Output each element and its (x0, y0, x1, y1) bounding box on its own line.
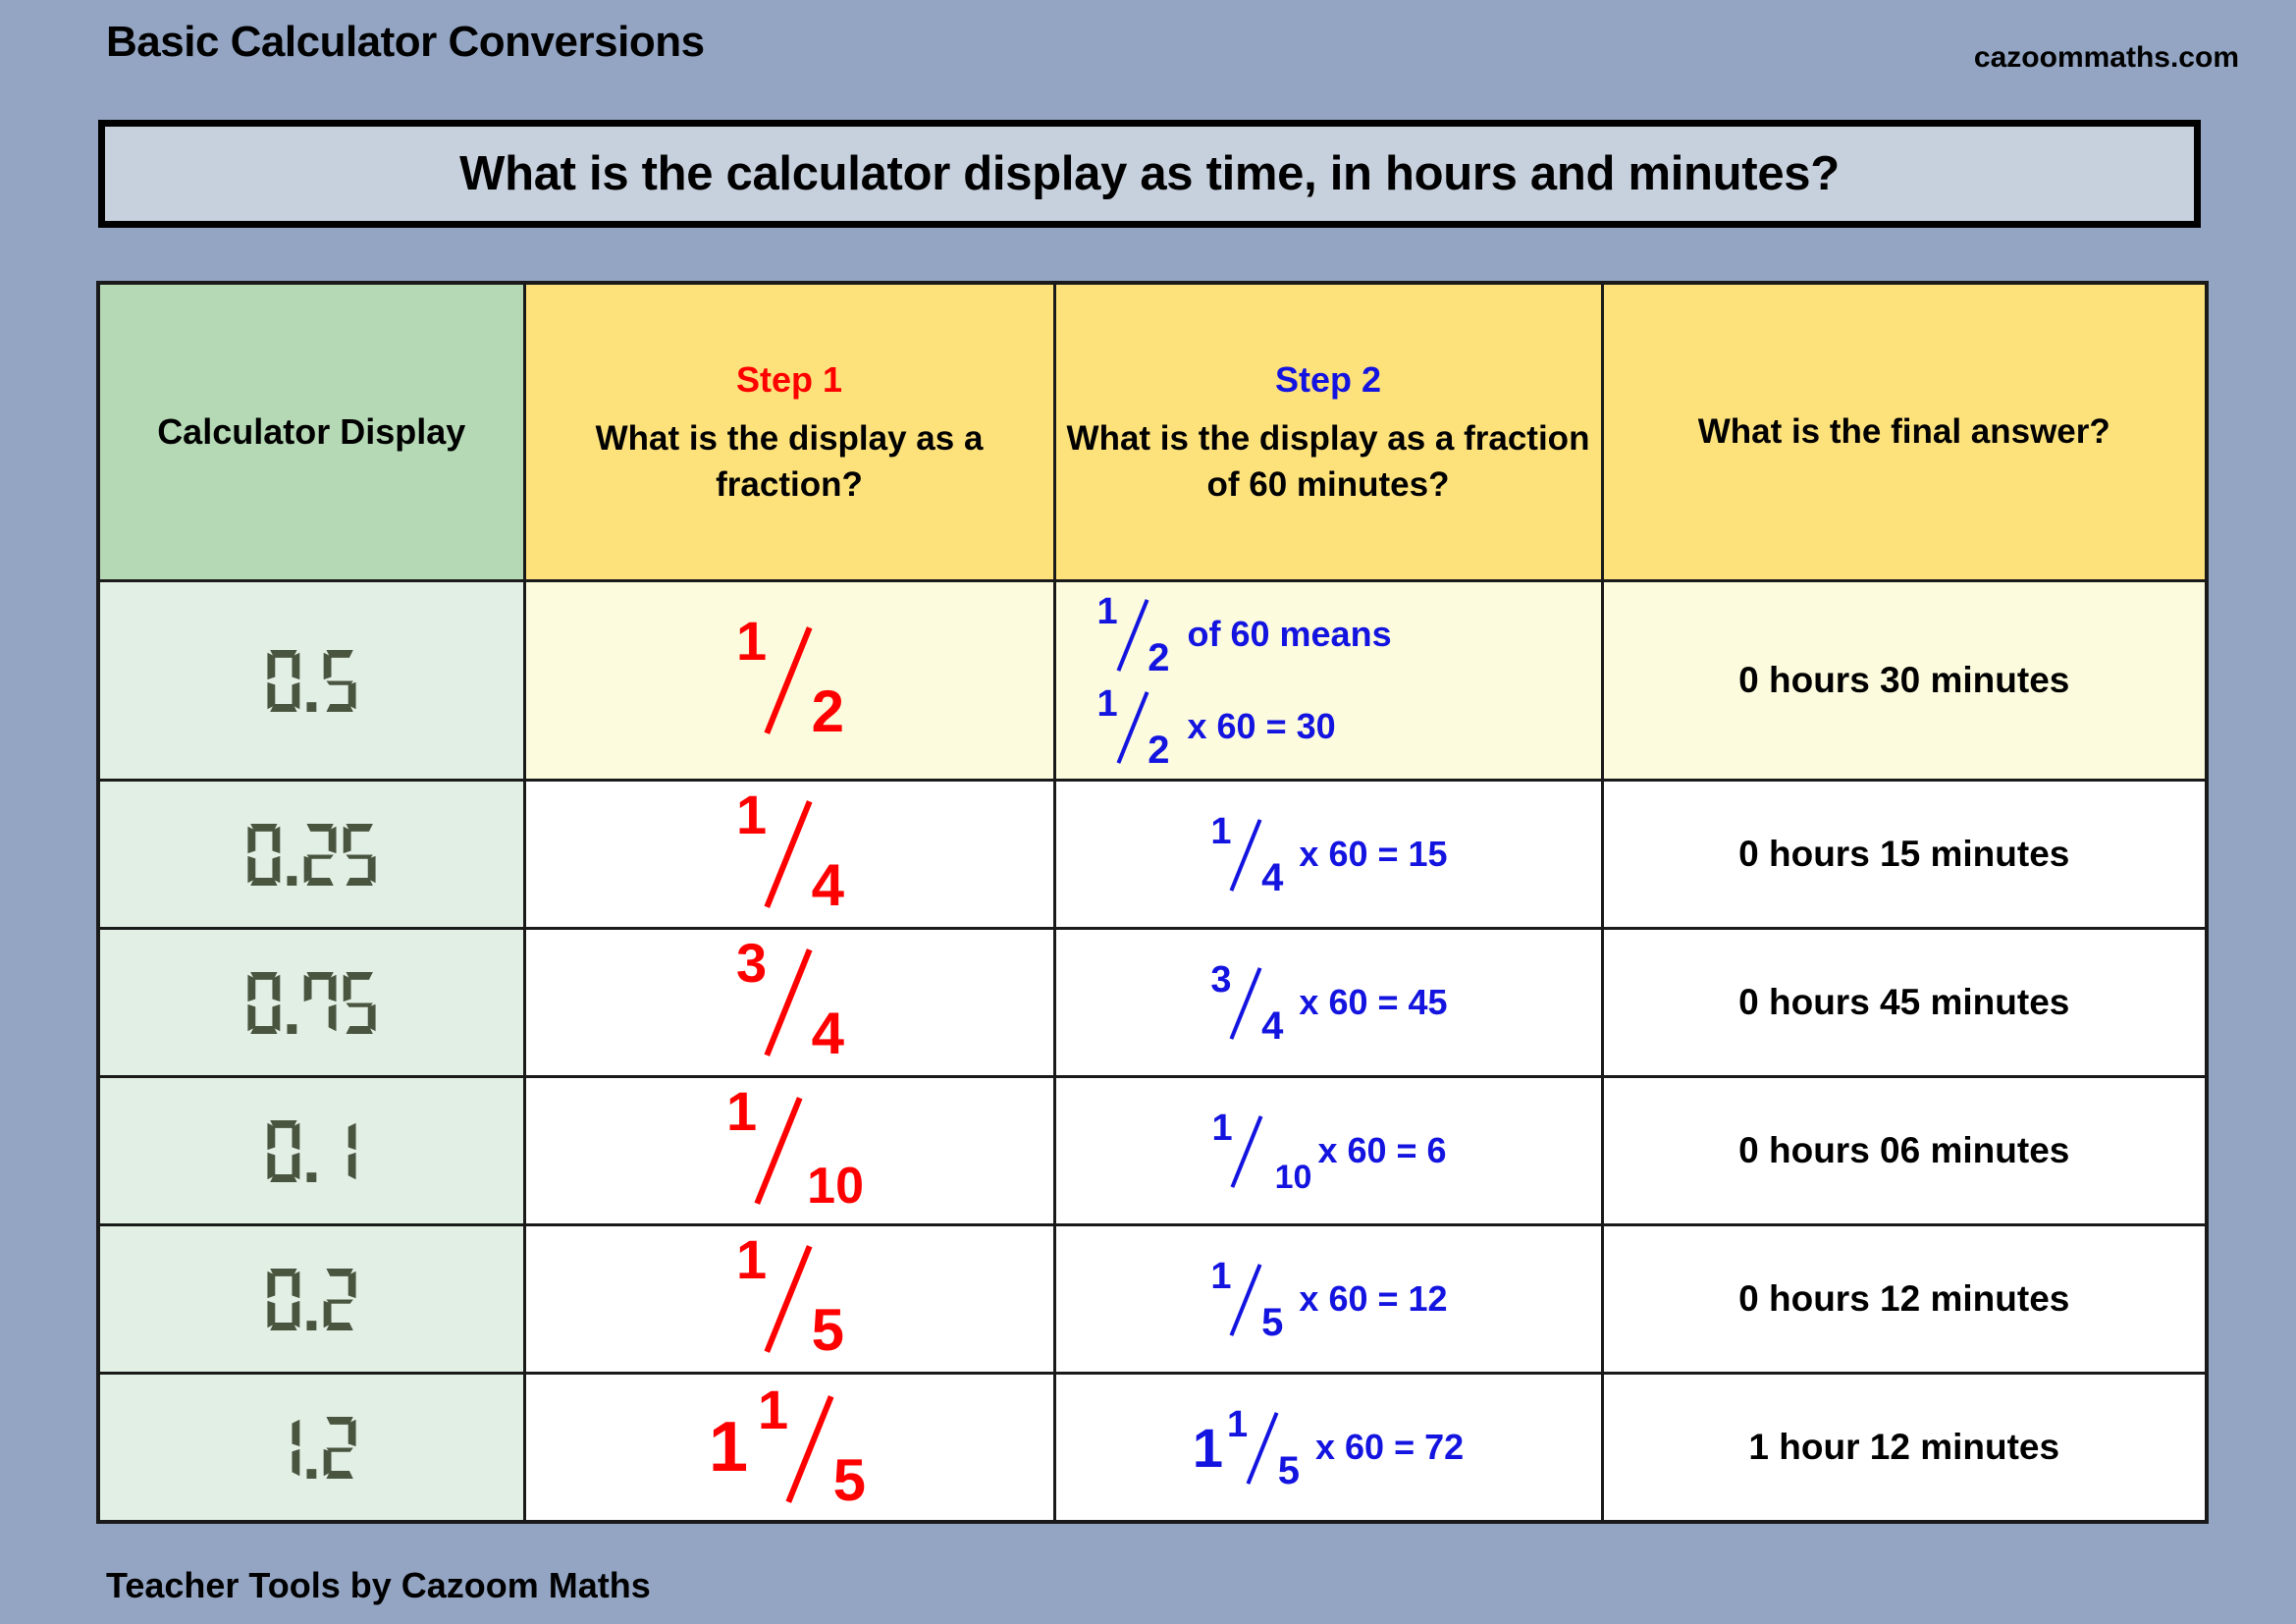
fraction-glyph: 15 (730, 1238, 848, 1356)
cell-calculator-display (98, 1077, 524, 1225)
column-header-calculator-display: Calculator Display (98, 283, 524, 581)
fraction-denominator: 5 (1278, 1451, 1300, 1490)
fraction-slash (754, 1097, 802, 1205)
fraction-numerator: 3 (1210, 961, 1231, 999)
cell-final-answer: 0 hours 30 minutes (1602, 581, 2207, 781)
cell-step-2-working: 34x 60 = 45 (1054, 929, 1602, 1077)
final-answer-text: 0 hours 45 minutes (1738, 982, 2069, 1022)
cell-calculator-display (98, 929, 524, 1077)
fraction-denominator: 4 (1261, 1006, 1283, 1046)
fraction: 115 (1193, 1408, 1302, 1487)
step-2-line-text: of 60 means (1188, 614, 1392, 655)
table-header-row: Calculator Display Step 1 What is the di… (98, 283, 2207, 581)
fraction: 14 (730, 793, 848, 911)
fraction-denominator: 5 (1261, 1303, 1283, 1342)
cell-step-1-fraction: 34 (524, 929, 1054, 1077)
fraction-numerator: 3 (736, 936, 767, 991)
cell-step-1-fraction: 115 (524, 1374, 1054, 1523)
fraction-glyph: 15 (1208, 1260, 1285, 1338)
fraction-numerator: 1 (1097, 593, 1118, 630)
fraction: 12 (1095, 687, 1172, 766)
column-header-label: What is the display as a fraction of 60 … (1067, 419, 1590, 504)
cell-calculator-display (98, 1374, 524, 1523)
step-2-line: 115x 60 = 72 (1056, 1408, 1601, 1487)
cell-final-answer: 0 hours 12 minutes (1602, 1225, 2207, 1374)
cell-step-2-working: 14x 60 = 15 (1054, 781, 1602, 929)
fraction-glyph: 14 (1208, 815, 1285, 893)
fraction-slash (1116, 599, 1148, 672)
fraction-slash (764, 948, 812, 1056)
step-2-lines: 12of 60 means12x 60 = 30 (1056, 595, 1601, 766)
table-row: 3434x 60 = 450 hours 45 minutes (98, 929, 2207, 1077)
fraction-denominator: 4 (1261, 858, 1283, 897)
final-answer-text: 0 hours 12 minutes (1738, 1278, 2069, 1319)
fraction-glyph: 34 (730, 942, 848, 1059)
column-header-step-2: Step 2 What is the display as a fraction… (1054, 283, 1602, 581)
table-row: 1414x 60 = 150 hours 15 minutes (98, 781, 2207, 929)
fraction-numerator: 1 (1097, 685, 1118, 723)
fraction: 12 (1095, 595, 1172, 674)
fraction-slash (1116, 691, 1148, 764)
fraction-denominator: 2 (1148, 638, 1169, 677)
fraction-slash (1231, 1115, 1263, 1188)
fraction-glyph: 12 (1095, 687, 1172, 766)
step-2-line-text: x 60 = 72 (1315, 1427, 1464, 1468)
column-header-label: What is the display as a fraction? (596, 419, 984, 504)
fraction: 15 (730, 1238, 848, 1356)
step-2-line: 14x 60 = 15 (1056, 815, 1601, 893)
fraction-slash (786, 1395, 834, 1503)
step-2-line-text: x 60 = 12 (1299, 1278, 1447, 1320)
fraction-numerator: 1 (736, 787, 767, 842)
column-header-final-answer: What is the final answer? (1602, 283, 2207, 581)
cell-calculator-display (98, 781, 524, 929)
fraction-glyph: 14 (730, 793, 848, 911)
fraction-numerator: 1 (736, 614, 767, 669)
fraction: 110 (1209, 1111, 1304, 1190)
step-2-line-text: x 60 = 45 (1299, 982, 1447, 1023)
fraction-slash (1230, 1264, 1262, 1336)
fraction-slash (1247, 1412, 1279, 1485)
table-row: 1515x 60 = 120 hours 12 minutes (98, 1225, 2207, 1374)
step-2-line: 15x 60 = 12 (1056, 1260, 1601, 1338)
fraction: 12 (730, 620, 848, 737)
step-2-line-text: x 60 = 6 (1317, 1130, 1446, 1171)
fraction-denominator: 4 (812, 856, 844, 915)
cell-step-2-working: 15x 60 = 12 (1054, 1225, 1602, 1374)
fraction: 34 (1208, 963, 1285, 1042)
fraction-slash (764, 1245, 812, 1353)
fraction-denominator: 2 (812, 682, 844, 741)
fraction-glyph: 110 (721, 1090, 858, 1208)
fraction-numerator: 1 (1227, 1406, 1248, 1443)
fraction: 14 (1208, 815, 1285, 893)
table-row: 115115x 60 = 721 hour 12 minutes (98, 1374, 2207, 1523)
cell-step-2-working: 12of 60 means12x 60 = 30 (1054, 581, 1602, 781)
fraction: 15 (1208, 1260, 1285, 1338)
final-answer-text: 1 hour 12 minutes (1748, 1427, 2059, 1467)
fraction-denominator: 4 (812, 1004, 844, 1063)
step-2-line: 12of 60 means (1095, 595, 1392, 674)
fraction-denominator: 10 (807, 1161, 864, 1212)
question-banner-text: What is the calculator display as time, … (459, 146, 1840, 201)
fraction-denominator: 5 (833, 1451, 866, 1510)
fraction-glyph: 12 (1095, 595, 1172, 674)
question-banner: What is the calculator display as time, … (98, 120, 2201, 228)
table-row: 1212of 60 means12x 60 = 300 hours 30 min… (98, 581, 2207, 781)
site-url: cazoommaths.com (1974, 41, 2239, 75)
fraction-glyph: 12 (730, 620, 848, 737)
cell-final-answer: 0 hours 15 minutes (1602, 781, 2207, 929)
fraction-denominator: 2 (1148, 731, 1169, 770)
lcd-display (100, 1120, 523, 1182)
step-2-line-text: x 60 = 30 (1188, 706, 1336, 747)
cell-final-answer: 1 hour 12 minutes (1602, 1374, 2207, 1523)
final-answer-text: 0 hours 06 minutes (1738, 1130, 2069, 1170)
column-header-label: Calculator Display (157, 411, 465, 452)
step-2-line: 110x 60 = 6 (1056, 1111, 1601, 1190)
step-2-label: Step 2 (1066, 356, 1591, 404)
table-body: 1212of 60 means12x 60 = 300 hours 30 min… (98, 581, 2207, 1523)
fraction: 110 (721, 1090, 858, 1208)
fraction-glyph: 15 (752, 1388, 870, 1506)
fraction: 115 (709, 1388, 870, 1506)
fraction-numerator: 1 (1210, 1258, 1231, 1295)
column-header-step-1: Step 1 What is the display as a fraction… (524, 283, 1054, 581)
fraction-numerator: 1 (736, 1232, 767, 1287)
lcd-display (100, 972, 523, 1034)
step-1-label: Step 1 (536, 356, 1043, 404)
step-2-line: 34x 60 = 45 (1056, 963, 1601, 1042)
cell-step-2-working: 115x 60 = 72 (1054, 1374, 1602, 1523)
fraction-slash (764, 800, 812, 908)
step-2-line: 12x 60 = 30 (1095, 687, 1336, 766)
table-row: 110110x 60 = 60 hours 06 minutes (98, 1077, 2207, 1225)
fraction-slash (764, 626, 812, 734)
footer-credit: Teacher Tools by Cazoom Maths (106, 1565, 651, 1606)
fraction-glyph: 15 (1225, 1408, 1302, 1487)
cell-final-answer: 0 hours 45 minutes (1602, 929, 2207, 1077)
final-answer-text: 0 hours 15 minutes (1738, 834, 2069, 874)
lcd-display (100, 650, 523, 712)
cell-step-1-fraction: 110 (524, 1077, 1054, 1225)
cell-step-1-fraction: 15 (524, 1225, 1054, 1374)
cell-calculator-display (98, 1225, 524, 1374)
fraction-whole: 1 (709, 1407, 748, 1488)
fraction-numerator: 1 (726, 1084, 757, 1139)
fraction: 34 (730, 942, 848, 1059)
fraction-slash (1230, 819, 1262, 892)
fraction-numerator: 1 (1211, 1110, 1232, 1147)
step-2-line-text: x 60 = 15 (1299, 834, 1447, 875)
lcd-display (100, 1417, 523, 1479)
fraction-denominator: 5 (812, 1301, 844, 1360)
fraction-slash (1230, 967, 1262, 1040)
fraction-glyph: 110 (1209, 1111, 1304, 1190)
fraction-numerator: 1 (758, 1382, 788, 1437)
conversions-table: Calculator Display Step 1 What is the di… (96, 281, 2209, 1524)
page-title: Basic Calculator Conversions (106, 18, 705, 67)
lcd-display (100, 824, 523, 886)
cell-step-2-working: 110x 60 = 6 (1054, 1077, 1602, 1225)
fraction-numerator: 1 (1210, 813, 1231, 850)
cell-step-1-fraction: 12 (524, 581, 1054, 781)
fraction-glyph: 34 (1208, 963, 1285, 1042)
cell-step-1-fraction: 14 (524, 781, 1054, 929)
final-answer-text: 0 hours 30 minutes (1738, 660, 2069, 700)
column-header-label: What is the final answer? (1698, 412, 2110, 451)
cell-final-answer: 0 hours 06 minutes (1602, 1077, 2207, 1225)
fraction-denominator: 10 (1275, 1161, 1312, 1194)
cell-calculator-display (98, 581, 524, 781)
fraction-whole: 1 (1193, 1416, 1223, 1480)
worksheet-page: Basic Calculator Conversions cazoommaths… (0, 0, 2296, 1624)
lcd-display (100, 1269, 523, 1330)
